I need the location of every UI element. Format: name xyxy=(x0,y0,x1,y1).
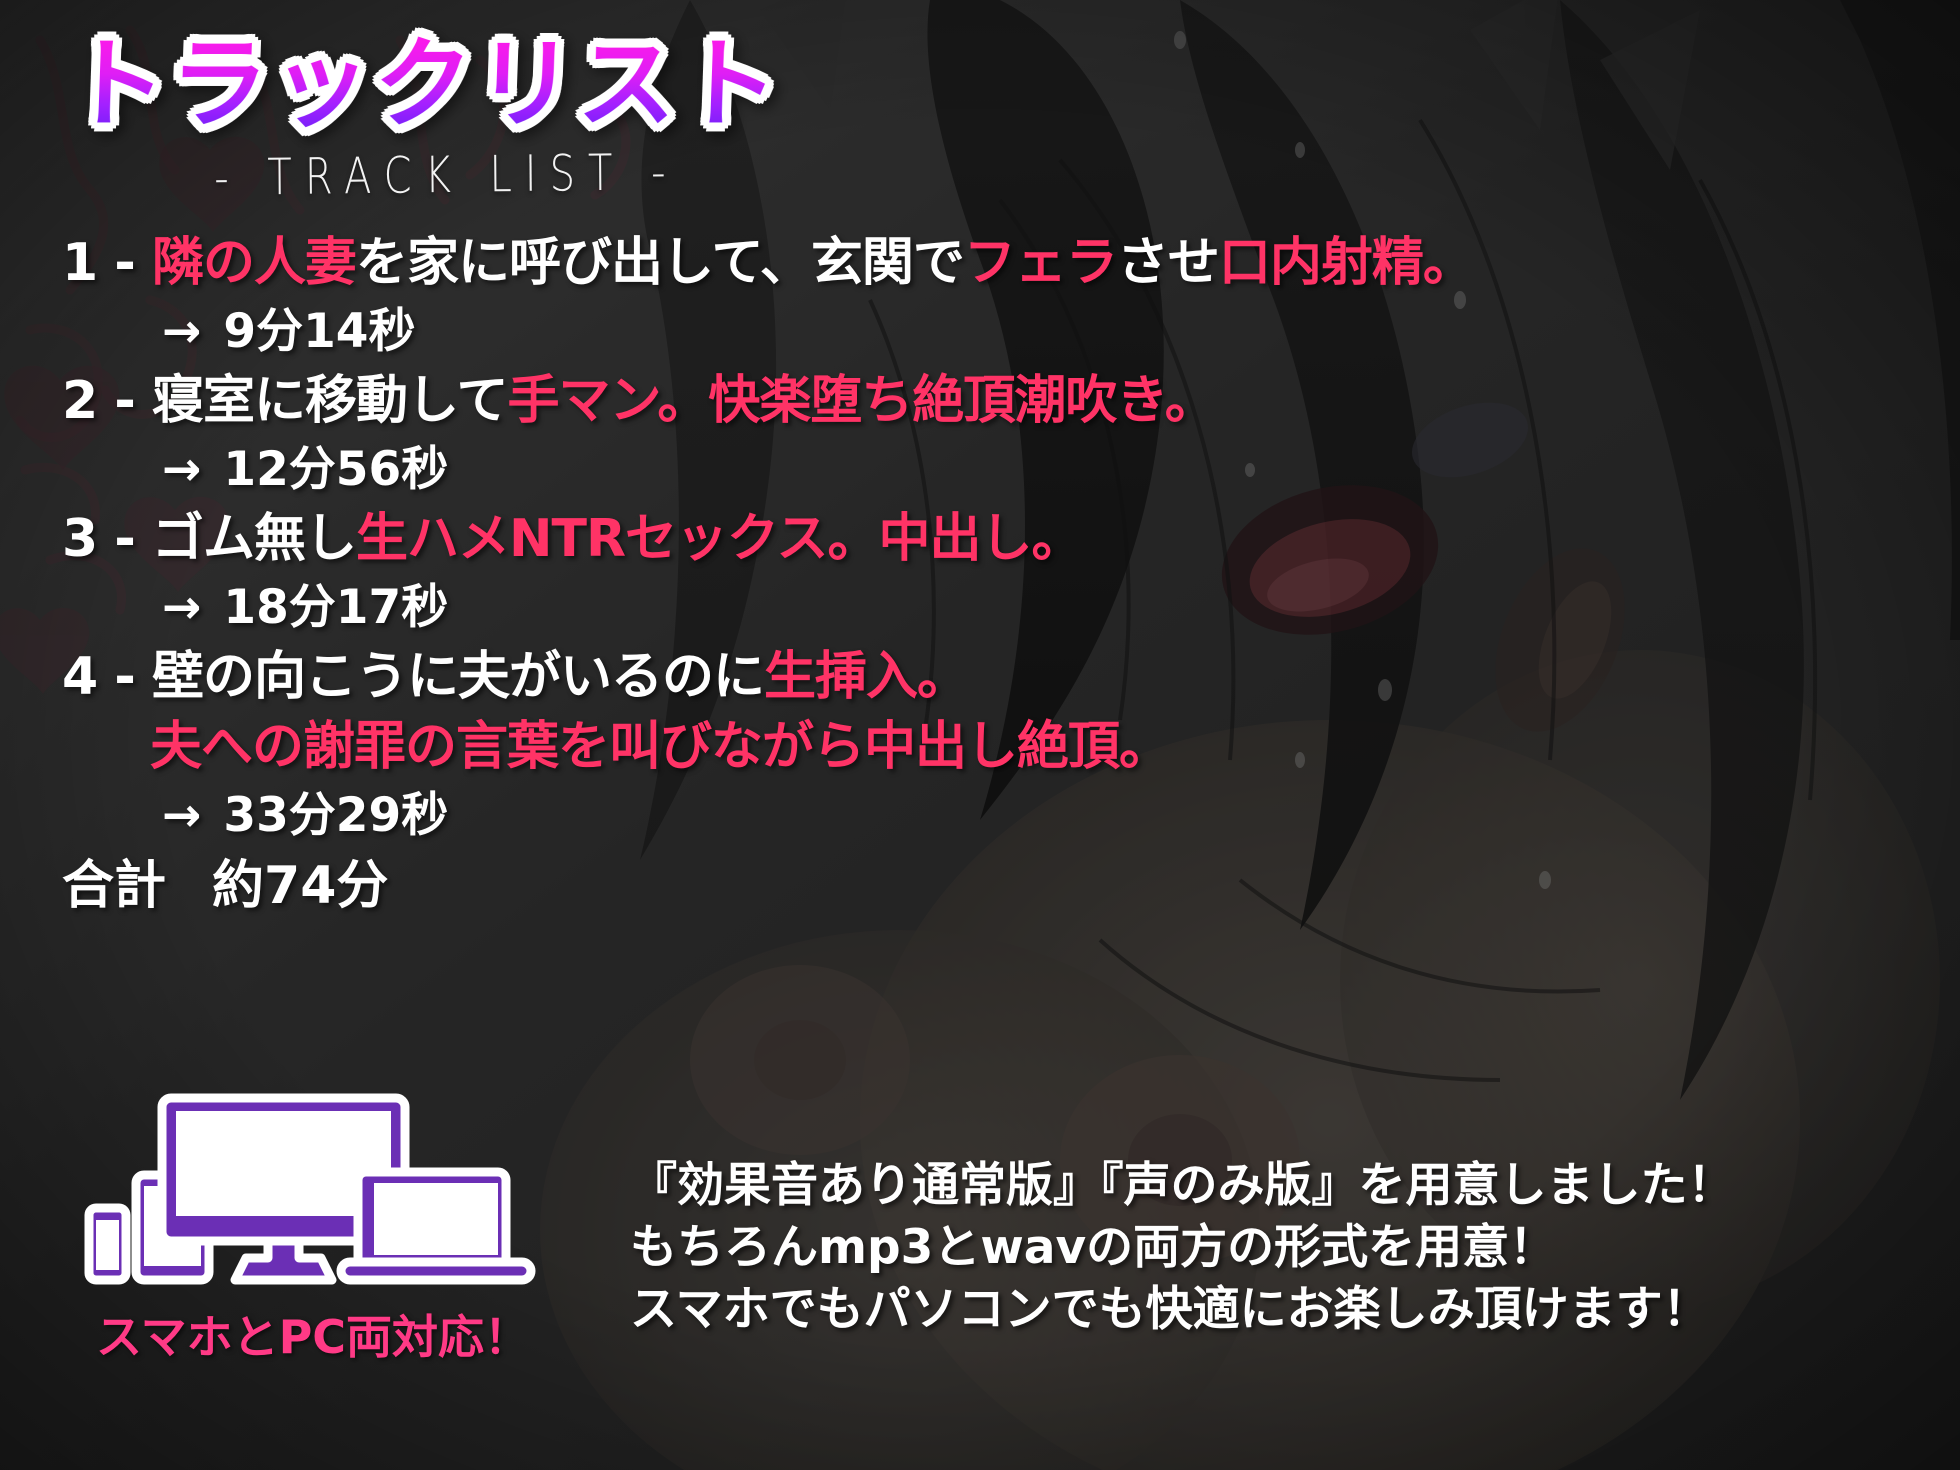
track-duration-4: →33分29秒 xyxy=(62,782,1542,850)
track-list: 1 - 隣の人妻を家に呼び出して、玄関でフェラさせ口内射精。 →9分14秒 2 … xyxy=(62,228,1542,922)
arrow-right-icon: → xyxy=(162,580,201,635)
track-title-seg-4-1: 生挿入。 xyxy=(764,647,968,707)
bottom-notes: 『効果音あり通常版』『声のみ版』を用意しました！ もちろんmp3とwavの両方の… xyxy=(630,1155,1735,1341)
track-duration-2: →12分56秒 xyxy=(62,436,1542,504)
total-value: 約74分 xyxy=(212,856,388,916)
track-duration-value-2: 12分56秒 xyxy=(223,442,448,497)
track-title-seg-1-0: 隣の人妻 xyxy=(152,233,356,293)
page-title-block: トラックリスト xyxy=(68,34,782,137)
devices-icon-group xyxy=(78,1080,548,1295)
track-row-1: 1 - 隣の人妻を家に呼び出して、玄関でフェラさせ口内射精。 xyxy=(62,228,1542,298)
bottom-note-line-1: 『効果音あり通常版』『声のみ版』を用意しました！ xyxy=(630,1155,1735,1217)
track-number-2: 2 xyxy=(62,371,97,431)
track-row-2: 2 - 寝室に移動して手マン。快楽堕ち絶頂潮吹き。 xyxy=(62,366,1542,436)
total-label: 合計 xyxy=(62,856,166,916)
track-duration-value-1: 9分14秒 xyxy=(223,304,415,359)
track-title-seg-1-1: を家に呼び出して、玄関で xyxy=(356,233,964,293)
track-row-3: 3 - ゴム無し生ハメNTRセックス。中出し。 xyxy=(62,504,1542,574)
track-title-seg-1-3: させ xyxy=(1117,233,1219,293)
track-title-seg-4-0: 壁の向こうに夫がいるのに xyxy=(152,647,764,707)
laptop-icon xyxy=(341,1172,531,1280)
track-duration-1: →9分14秒 xyxy=(62,298,1542,366)
track-title-seg-3-0: ゴム無し xyxy=(152,509,356,569)
bottom-note-line-3: スマホでもパソコンでも快適にお楽しみ頂けます！ xyxy=(630,1279,1735,1341)
track-title-seg-1-2: フェラ xyxy=(964,233,1117,293)
track-number-3: 3 xyxy=(62,509,97,569)
track-title-continuation-4: 夫への謝罪の言葉を叫びながら中出し絶頂。 xyxy=(62,712,1542,782)
arrow-right-icon: → xyxy=(162,788,201,843)
bottom-note-line-2: もちろんmp3とwavの両方の形式を用意！ xyxy=(630,1217,1735,1279)
track-separator-3: - xyxy=(114,509,135,569)
track-separator-1: - xyxy=(114,233,135,293)
track-title-seg-2-1: 手マン。快楽堕ち絶頂潮吹き。 xyxy=(507,371,1215,431)
devices-caption: スマホとPC両対応！ xyxy=(78,1301,548,1367)
track-duration-3: →18分17秒 xyxy=(62,574,1542,642)
total-row: 合計約74分 xyxy=(62,850,1542,922)
page-subtitle: - TRACK LIST - xyxy=(214,144,679,208)
track-number-1: 1 xyxy=(62,233,97,293)
track-row-4: 4 - 壁の向こうに夫がいるのに生挿入。 xyxy=(62,642,1542,712)
smartphone-icon xyxy=(89,1208,126,1280)
track-separator-2: - xyxy=(114,371,135,431)
track-number-4: 4 xyxy=(62,647,97,707)
arrow-right-icon: → xyxy=(162,304,201,359)
track-title-seg-3-1: 生ハメNTRセックス。中出し。 xyxy=(356,509,1082,569)
device-compatibility-block: スマホとPC両対応！ xyxy=(78,1080,548,1367)
track-title-seg-2-0: 寝室に移動して xyxy=(152,371,507,431)
page-title: トラックリスト xyxy=(66,34,784,137)
track-title-seg-1-4: 口内射精。 xyxy=(1219,233,1474,293)
track-duration-value-4: 33分29秒 xyxy=(223,788,448,843)
track-duration-value-3: 18分17秒 xyxy=(223,580,448,635)
track-separator-4: - xyxy=(114,647,135,707)
arrow-right-icon: → xyxy=(162,442,201,497)
